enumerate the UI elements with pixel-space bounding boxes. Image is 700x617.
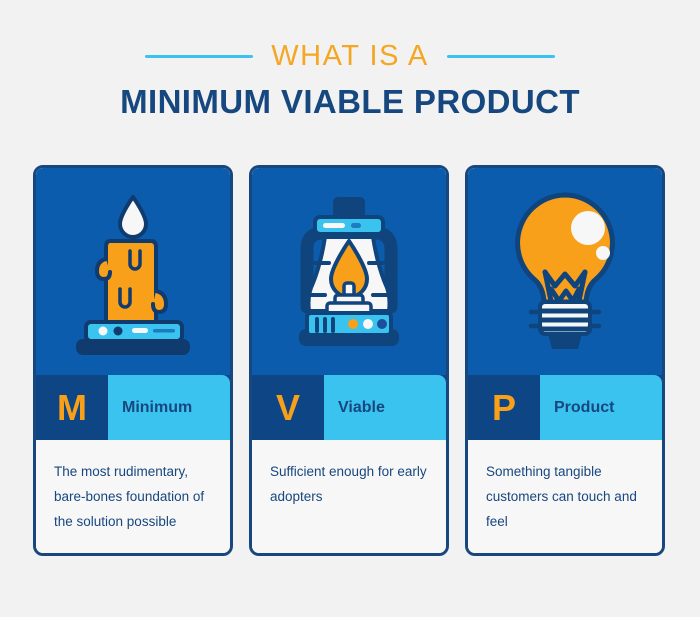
card-body-product: Something tangible customers can touch a… — [468, 440, 662, 553]
label-bar-viable: V Viable — [252, 375, 446, 440]
card-body-minimum: The most rudimentary, bare-bones foundat… — [36, 440, 230, 553]
card-text-product: Something tangible customers can touch a… — [486, 460, 644, 535]
card-body-viable: Sufficient enough for early adopters — [252, 440, 446, 553]
page-title: MINIMUM VIABLE PRODUCT — [0, 85, 700, 118]
lantern-icon — [269, 179, 429, 364]
card-text-minimum: The most rudimentary, bare-bones foundat… — [54, 460, 212, 535]
label-letter-m: M — [36, 375, 108, 440]
label-bar-product: P Product — [468, 375, 662, 440]
label-word-product: Product — [540, 375, 662, 440]
label-bar-minimum: M Minimum — [36, 375, 230, 440]
kicker-text: WHAT IS A — [271, 42, 428, 71]
label-word-minimum: Minimum — [108, 375, 230, 440]
card-text-viable: Sufficient enough for early adopters — [270, 460, 428, 510]
candle-icon — [58, 179, 208, 364]
card-minimum[interactable]: M Minimum The most rudimentary, bare-bon… — [33, 165, 233, 556]
card-viable[interactable]: V Viable Sufficient enough for early ado… — [249, 165, 449, 556]
icon-panel-minimum — [36, 168, 230, 375]
kicker-row: WHAT IS A — [0, 42, 700, 71]
page-header: WHAT IS A MINIMUM VIABLE PRODUCT — [0, 0, 700, 118]
label-word-viable: Viable — [324, 375, 446, 440]
label-letter-v: V — [252, 375, 324, 440]
lightbulb-icon — [485, 179, 645, 364]
label-letter-p: P — [468, 375, 540, 440]
divider-line-right — [447, 55, 555, 58]
cards-row: M Minimum The most rudimentary, bare-bon… — [33, 165, 667, 556]
icon-panel-product — [468, 168, 662, 375]
divider-line-left — [145, 55, 253, 58]
card-product[interactable]: P Product Something tangible customers c… — [465, 165, 665, 556]
icon-panel-viable — [252, 168, 446, 375]
